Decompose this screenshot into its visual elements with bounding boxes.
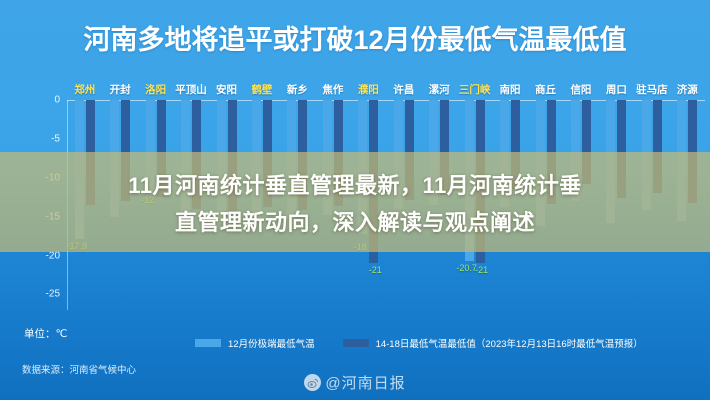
value-label-濮阳: -21: [369, 265, 382, 275]
x-axis-labels: 郑州开封洛阳平顶山安阳鹤壁新乡焦作濮阳许昌漯河三门峡南阳商丘信阳周口驻马店济源: [67, 82, 705, 98]
legend-swatch-forecast-icon: [343, 339, 369, 347]
x-tick-label-漯河: 漯河: [429, 82, 450, 97]
y-tick-label: -5: [51, 133, 60, 144]
overlay-headline-line-2: 直管理新动向，深入解读与观点阐述: [175, 205, 535, 237]
x-tick-label-商丘: 商丘: [535, 82, 556, 97]
unit-label: 单位：℃: [24, 326, 67, 341]
x-tick-label-三门峡: 三门峡: [459, 82, 491, 97]
legend-swatch-extreme-icon: [195, 339, 221, 347]
x-tick-label-洛阳: 洛阳: [145, 82, 166, 97]
y-tick-label: 0: [54, 95, 60, 106]
x-tick-label-济源: 济源: [677, 82, 698, 97]
chart-legend: 12月份极端最低气温 14-18日最低气温最低值（2023年12月13日16时最…: [195, 336, 643, 350]
x-tick-label-鹤壁: 鹤壁: [251, 82, 272, 97]
x-tick-label-周口: 周口: [606, 82, 627, 97]
watermark-text: @河南日报: [325, 372, 405, 393]
y-tick-label: -25: [46, 289, 60, 300]
legend-item-forecast: 14-18日最低气温最低值（2023年12月13日16时最低气温预报）: [343, 336, 643, 350]
overlay-headline-line-1: 11月河南统计垂直管理最新，11月河南统计垂: [128, 168, 582, 200]
watermark: @河南日报: [0, 372, 710, 393]
overlay-headline-banner: 11月河南统计垂直管理最新，11月河南统计垂 直管理新动向，深入解读与观点阐述: [0, 152, 710, 252]
x-tick-label-平顶山: 平顶山: [175, 82, 207, 97]
x-tick-label-许昌: 许昌: [393, 82, 414, 97]
x-tick-label-焦作: 焦作: [322, 82, 343, 97]
page-title: 河南多地将追平或打破12月份最低气温最低值: [0, 18, 710, 57]
legend-label-extreme: 12月份极端最低气温: [228, 336, 315, 350]
legend-label-forecast: 14-18日最低气温最低值（2023年12月13日16时最低气温预报）: [376, 336, 643, 350]
x-tick-label-南阳: 南阳: [500, 82, 521, 97]
legend-item-extreme: 12月份极端最低气温: [195, 336, 315, 350]
x-tick-label-开封: 开封: [110, 82, 131, 97]
value-label-三门峡: -21: [475, 265, 488, 275]
x-tick-label-信阳: 信阳: [570, 82, 591, 97]
x-tick-label-濮阳: 濮阳: [358, 82, 379, 97]
infographic-root: 河南多地将追平或打破12月份最低气温最低值 郑州开封洛阳平顶山安阳鹤壁新乡焦作濮…: [0, 0, 710, 400]
x-tick-label-郑州: 郑州: [74, 82, 95, 97]
x-tick-label-安阳: 安阳: [216, 82, 237, 97]
weibo-icon: [304, 374, 321, 391]
x-tick-label-驻马店: 驻马店: [636, 82, 668, 97]
value-label-三门峡: -20.7: [456, 263, 477, 273]
x-tick-label-新乡: 新乡: [287, 82, 308, 97]
